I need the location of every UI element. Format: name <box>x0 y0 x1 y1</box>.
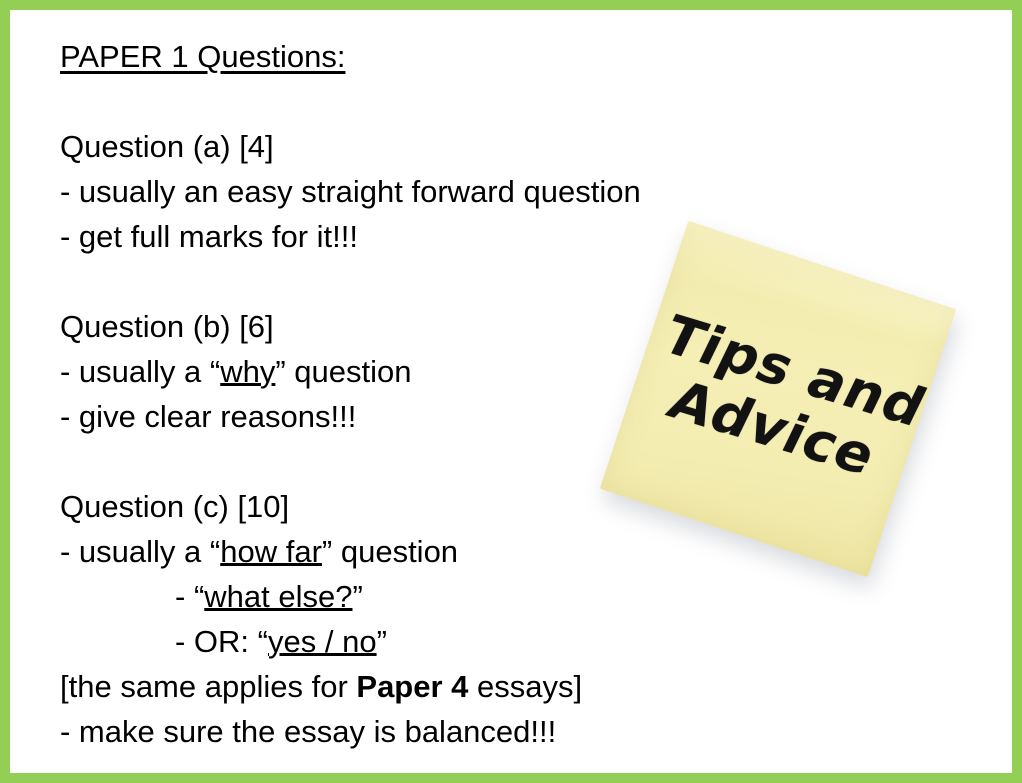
question-b-bullet-1-prefix: - usually a <box>60 354 210 389</box>
spacer-2 <box>60 259 760 304</box>
page-title-text: PAPER 1 Questions: <box>60 39 345 74</box>
paper-4-emphasis: Paper 4 <box>356 669 468 704</box>
page-title: PAPER 1 Questions: <box>60 34 760 79</box>
question-b-open-quote: “ <box>210 354 220 389</box>
paper-4-note-prefix: [the same applies for <box>60 669 356 704</box>
question-c-subbullet-2-open-quote: “ <box>258 624 268 659</box>
question-c-bullet-1-prefix: - usually a <box>60 534 210 569</box>
question-c-subbullet-1-open-quote: “ <box>194 579 204 614</box>
question-c-open-quote: “ <box>210 534 220 569</box>
question-a-title: Question (a) [4] <box>60 124 760 169</box>
paper-4-note: [the same applies for Paper 4 essays] <box>60 664 760 709</box>
question-c-subbullet-1-keyword: what else? <box>204 579 352 614</box>
question-c-subbullet-1: - “what else?” <box>60 574 760 619</box>
balanced-essay-line: - make sure the essay is balanced!!! <box>60 709 760 754</box>
question-c-subbullet-1-prefix: - <box>175 579 194 614</box>
question-c-keyword: how far <box>220 534 322 569</box>
question-c-bullet-1-suffix: ” question <box>322 534 458 569</box>
question-b-keyword: why <box>220 354 275 389</box>
question-c-subbullet-2-keyword: yes / no <box>268 624 377 659</box>
paper-4-note-suffix: essays] <box>468 669 582 704</box>
spacer-1 <box>60 79 760 124</box>
question-c-subbullet-2-suffix: ” <box>377 624 387 659</box>
question-c-subbullet-2: - OR: “yes / no” <box>60 619 760 664</box>
question-c-subbullet-2-prefix: - OR: <box>175 624 258 659</box>
question-c-subbullet-1-suffix: ” <box>352 579 362 614</box>
question-a-bullet-1: - usually an easy straight forward quest… <box>60 169 760 214</box>
question-b-bullet-1-suffix: ” question <box>275 354 411 389</box>
slide-canvas: PAPER 1 Questions: Question (a) [4] - us… <box>0 0 1022 783</box>
question-c-bullet-1: - usually a “how far” question <box>60 529 760 574</box>
question-a-bullet-2: - get full marks for it!!! <box>60 214 760 259</box>
